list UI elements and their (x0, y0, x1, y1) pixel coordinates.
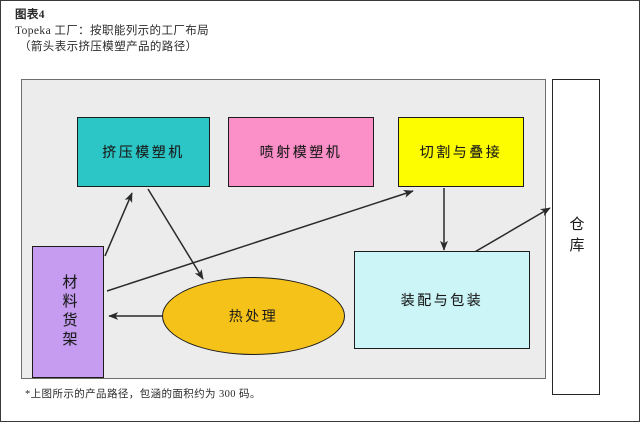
node-material-rack-label: 材料货架 (61, 274, 76, 350)
node-cutting-and-lapping-label: 切割与叠接 (420, 142, 503, 162)
node-heat-treatment[interactable]: 热处理 (162, 277, 345, 355)
diagram-frame: 挤压模塑机 喷射模塑机 切割与叠接 材料货架 热处理 装配与包装 仓库 (21, 79, 621, 379)
node-injection-molding-label: 喷射模塑机 (260, 142, 343, 162)
node-heat-treatment-label: 热处理 (229, 306, 279, 326)
figure-footnote: *上图所示的产品路径，包涵的面积约为 300 码。 (25, 386, 261, 401)
node-material-rack[interactable]: 材料货架 (32, 246, 104, 378)
node-cutting-and-lapping[interactable]: 切割与叠接 (398, 117, 524, 187)
node-extrusion-molding-label: 挤压模塑机 (102, 142, 185, 162)
figure-title: Topeka 工厂：按职能列示的工厂布局 (15, 23, 515, 39)
figure-page: 图表4 Topeka 工厂：按职能列示的工厂布局 （箭头表示挤压模塑产品的路径） (0, 0, 640, 422)
node-injection-molding[interactable]: 喷射模塑机 (228, 117, 374, 187)
node-warehouse[interactable]: 仓库 (552, 79, 600, 395)
node-warehouse-label: 仓库 (566, 216, 587, 258)
node-assembly-and-packaging-label: 装配与包装 (401, 290, 484, 310)
node-extrusion-molding[interactable]: 挤压模塑机 (77, 117, 210, 187)
figure-number: 图表4 (15, 7, 515, 23)
figure-subtitle: （箭头表示挤压模塑产品的路径） (15, 39, 515, 55)
figure-header: 图表4 Topeka 工厂：按职能列示的工厂布局 （箭头表示挤压模塑产品的路径） (15, 7, 515, 55)
node-assembly-and-packaging[interactable]: 装配与包装 (354, 251, 530, 349)
